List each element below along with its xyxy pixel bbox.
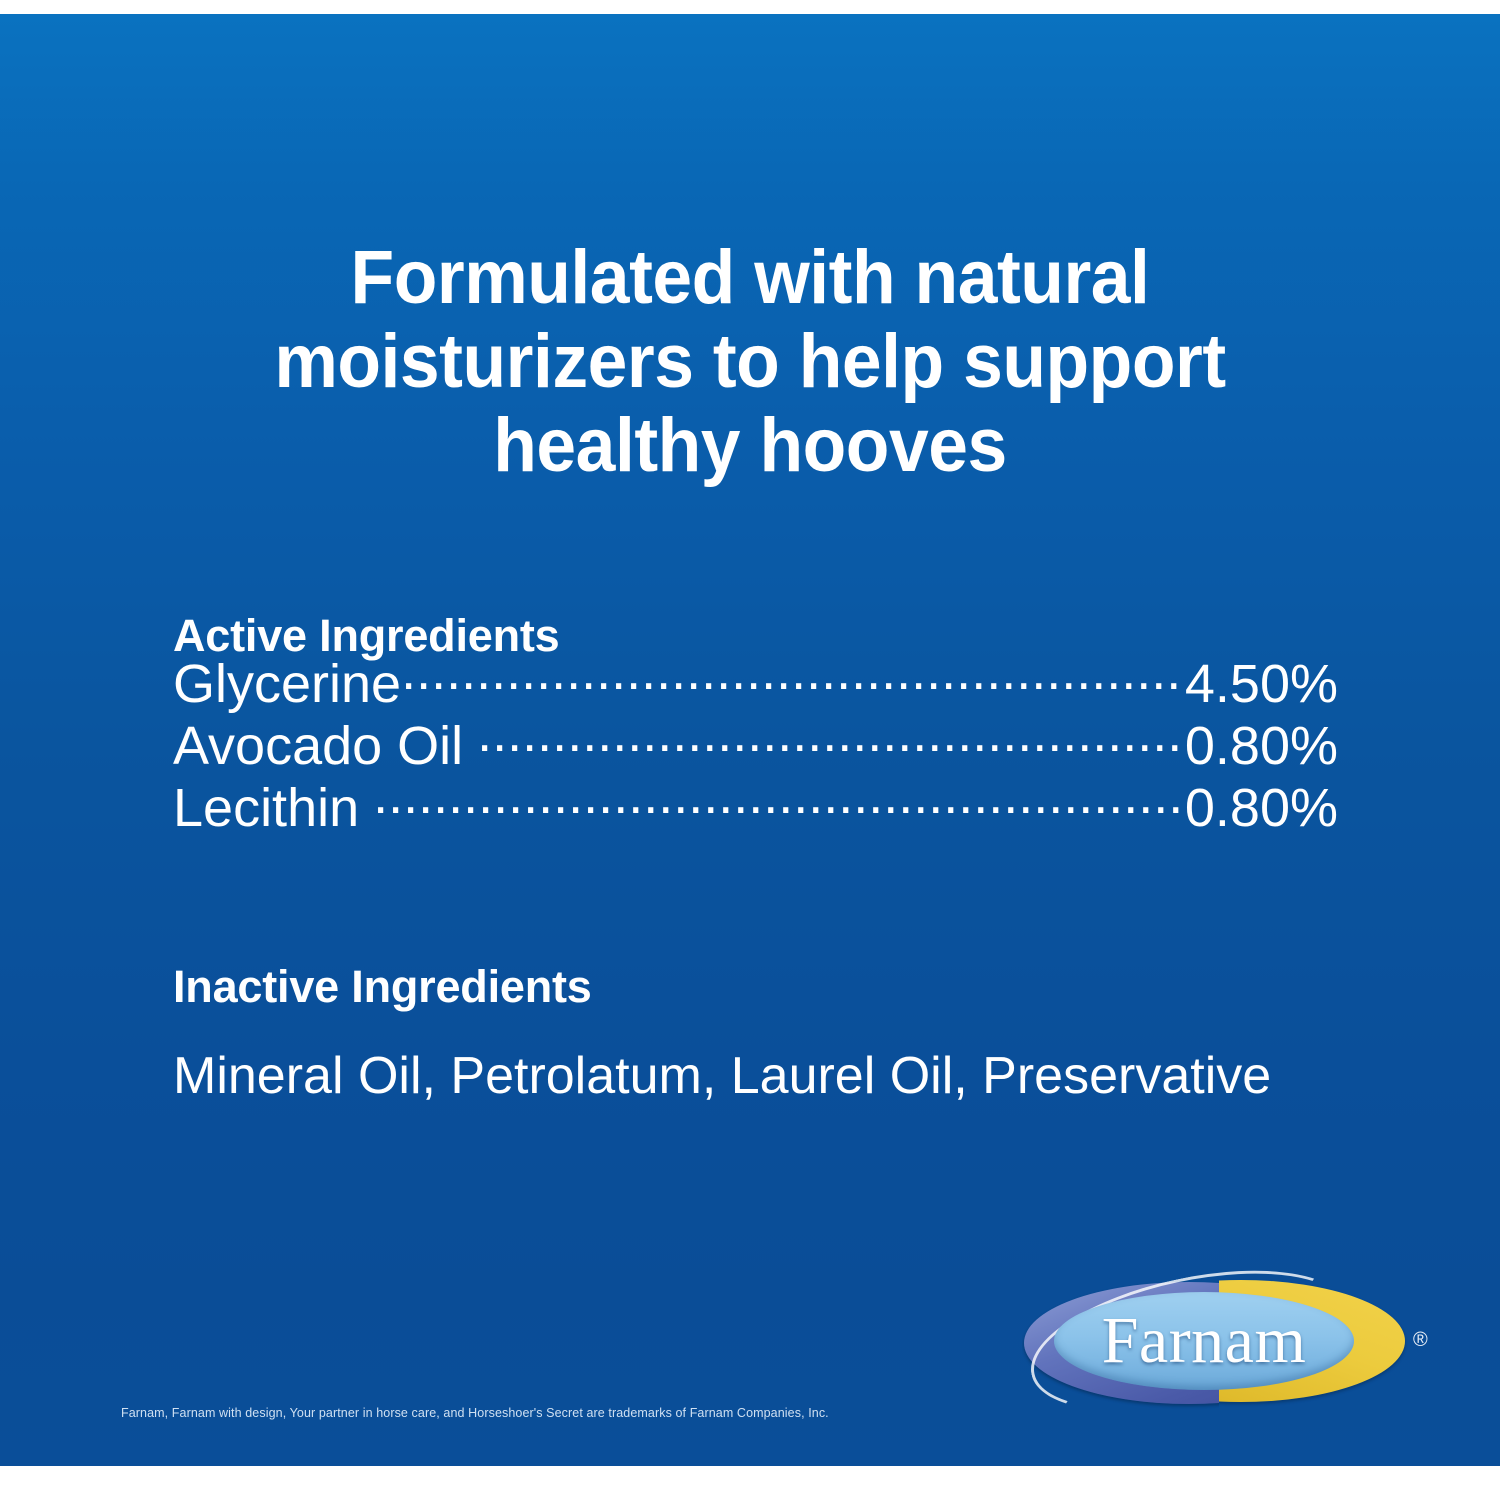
- dot-leader: [401, 648, 1185, 702]
- ingredient-row: Glycerine 4.50%: [173, 648, 1338, 710]
- ingredient-name: Glycerine: [173, 653, 401, 715]
- ingredient-value: 0.80%: [1185, 777, 1338, 839]
- active-ingredients-list: Glycerine 4.50% Avocado Oil 0.80% Lecith…: [173, 648, 1338, 834]
- dot-leader: [373, 772, 1185, 826]
- ingredient-panel-page: Formulated with natural moisturizers to …: [0, 0, 1500, 1500]
- logo-wordmark: Farnam: [1054, 1292, 1354, 1390]
- inactive-ingredients-text: Mineral Oil, Petrolatum, Laurel Oil, Pre…: [173, 1045, 1271, 1107]
- ingredient-row: Lecithin 0.80%: [173, 772, 1338, 834]
- ingredient-name: Avocado Oil: [173, 715, 463, 777]
- ingredient-row: Avocado Oil 0.80%: [173, 710, 1338, 772]
- inactive-ingredients-heading: Inactive Ingredients: [173, 962, 592, 1012]
- ingredient-name: Lecithin: [173, 777, 359, 839]
- farnam-logo: Farnam ®: [1022, 1274, 1407, 1406]
- page-title: Formulated with natural moisturizers to …: [186, 236, 1314, 488]
- registered-trademark-icon: ®: [1413, 1330, 1428, 1350]
- ingredient-value: 4.50%: [1185, 653, 1338, 715]
- ingredient-value: 0.80%: [1185, 715, 1338, 777]
- trademark-notice: Farnam, Farnam with design, Your partner…: [121, 1405, 829, 1421]
- dot-leader: [477, 710, 1185, 764]
